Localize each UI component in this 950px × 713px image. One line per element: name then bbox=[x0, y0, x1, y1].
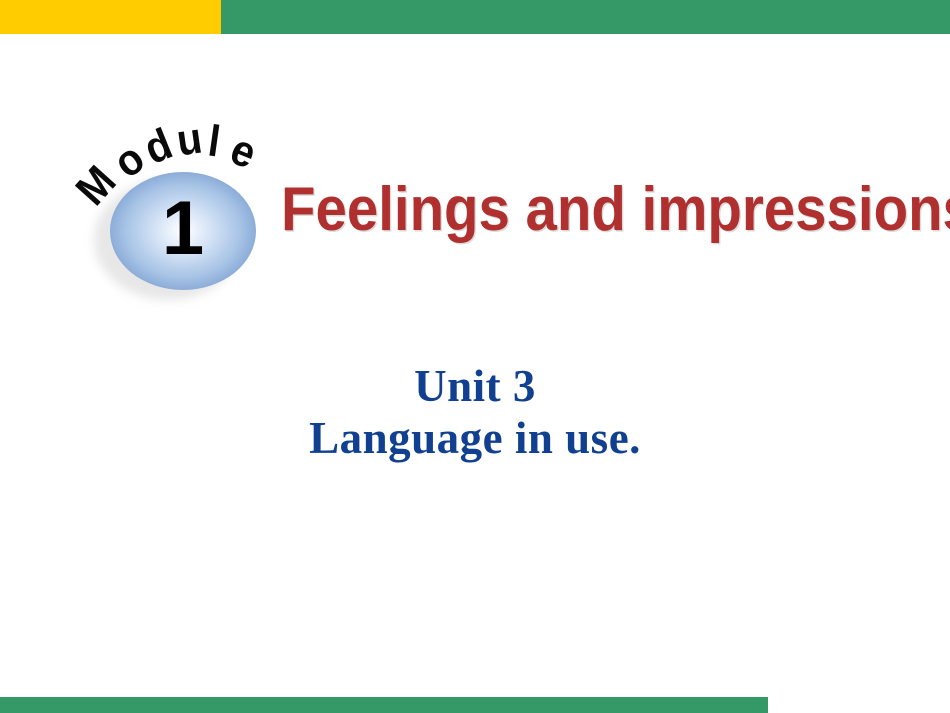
top-bar-green-accent bbox=[221, 0, 950, 34]
module-word-char: u bbox=[174, 116, 205, 163]
page-title: Feelings and impressions bbox=[281, 176, 827, 244]
module-word-char: M bbox=[69, 159, 124, 214]
unit-number-line: Unit 3 bbox=[0, 364, 950, 410]
module-word-char: l bbox=[205, 119, 222, 164]
module-word-arc: M o d u l e bbox=[72, 112, 292, 242]
unit-heading: Unit 3 Language in use. bbox=[0, 364, 950, 466]
top-bar-yellow-accent bbox=[0, 0, 221, 34]
module-word-char: e bbox=[225, 127, 262, 176]
module-badge: 1 M o d u l e bbox=[72, 112, 292, 312]
unit-subtitle-line: Language in use. bbox=[0, 410, 950, 466]
slide: 1 M o d u l e Feelings and impressions U… bbox=[0, 0, 950, 713]
bottom-bar-green-accent bbox=[0, 697, 768, 713]
